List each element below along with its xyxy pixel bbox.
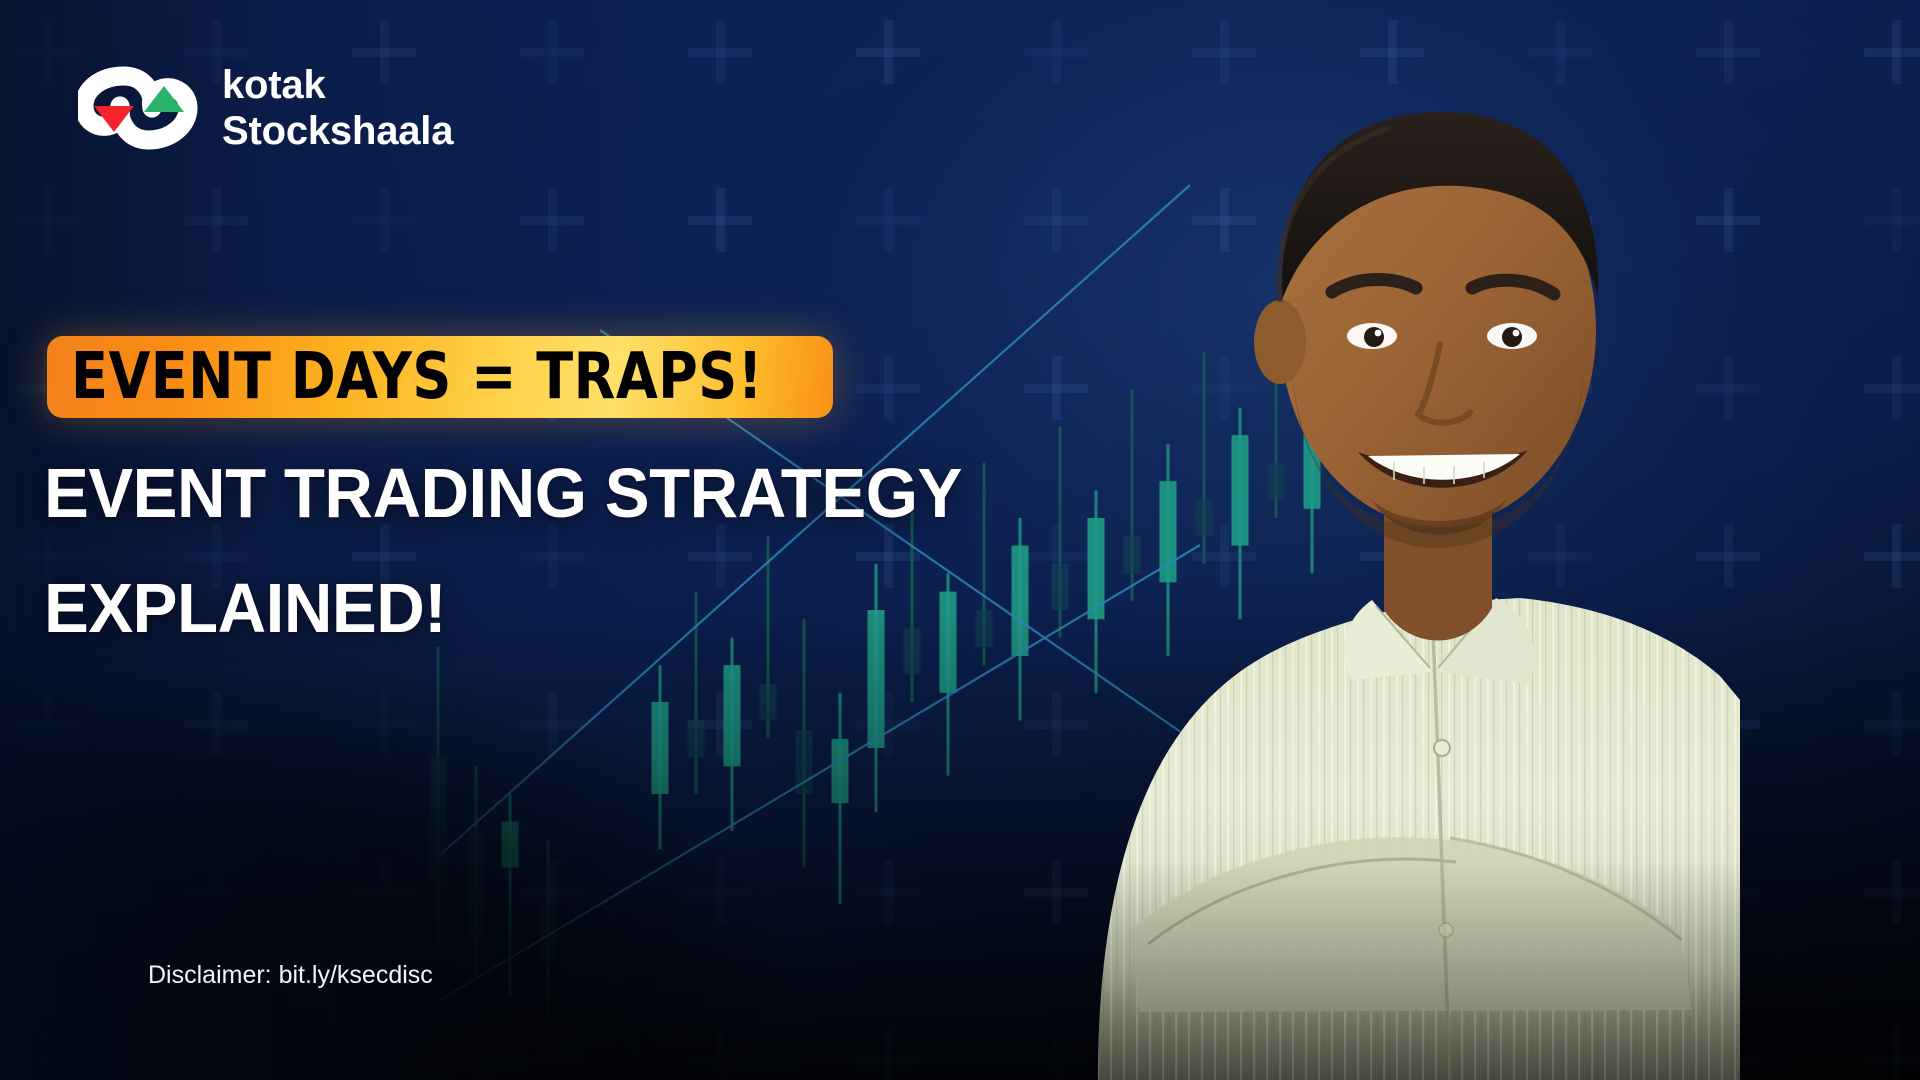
brand-line-2: Stockshaala <box>222 108 453 154</box>
candle-body <box>652 702 669 794</box>
headline-line-2: EXPLAINED! <box>44 570 446 646</box>
candle-body <box>832 739 849 803</box>
presenter-photo <box>980 0 1740 1080</box>
candle-body <box>796 730 813 794</box>
infinity-loop-icon <box>78 64 200 152</box>
candle-body <box>688 720 705 757</box>
candle-body <box>940 592 957 693</box>
headline-line-1: EVENT TRADING STRATEGY <box>44 455 962 531</box>
candle-body <box>868 610 885 748</box>
brand-line-1: kotak <box>222 62 453 108</box>
thumbnail-canvas: kotak Stockshaala EVENT DAYS = TRAPS! EV… <box>0 0 1920 1080</box>
brand-logo: kotak Stockshaala <box>78 62 453 154</box>
candle-body <box>724 665 741 766</box>
highlight-banner: EVENT DAYS = TRAPS! <box>47 336 833 418</box>
candle-body <box>430 757 447 886</box>
brand-wordmark: kotak Stockshaala <box>222 62 453 154</box>
candle-body <box>760 684 777 721</box>
candle-body <box>502 822 519 868</box>
candle-body <box>904 628 921 674</box>
highlight-banner-text: EVENT DAYS = TRAPS! <box>71 344 763 410</box>
disclaimer-text: Disclaimer: bit.ly/ksecdisc <box>148 960 433 990</box>
candle-body <box>468 831 485 941</box>
